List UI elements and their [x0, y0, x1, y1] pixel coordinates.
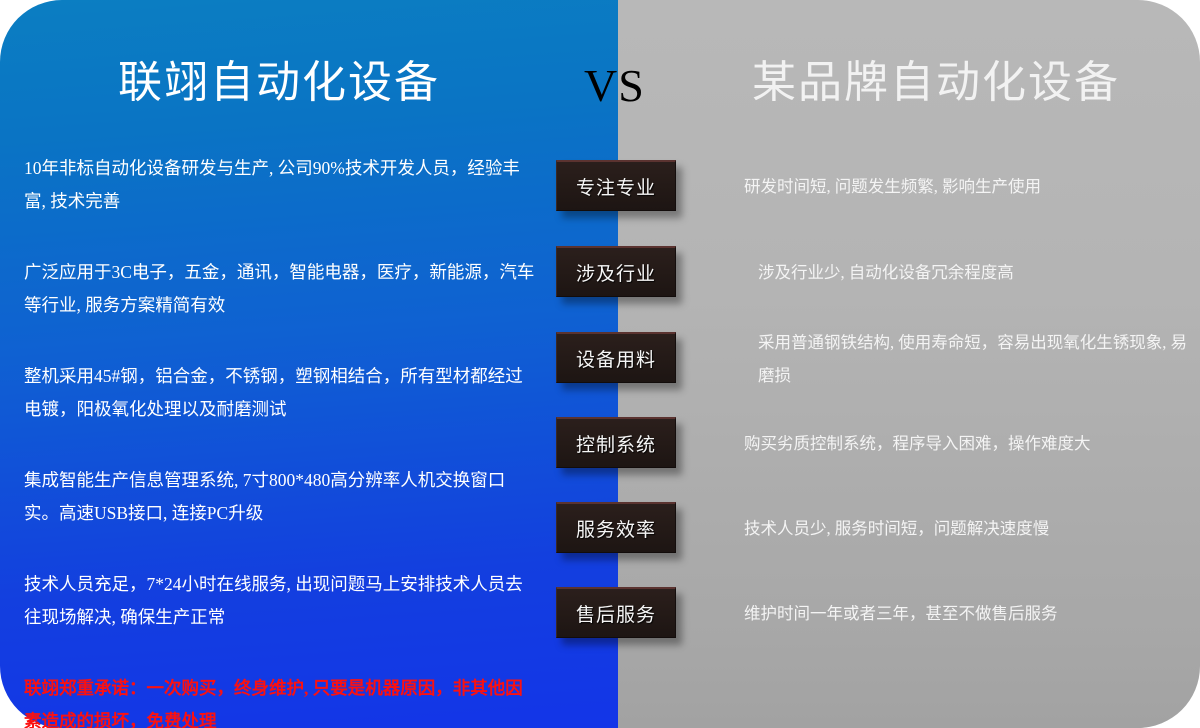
category-chip-after-sales[interactable]: 售后服务: [556, 587, 676, 638]
right-drawback-item-3: 采用普通钢铁结构, 使用寿命短，容易出现氧化生锈现象, 易磨损: [744, 326, 1188, 392]
category-chip-label: 控制系统: [576, 430, 656, 457]
left-brand-title: 联翊自动化设备: [118, 52, 440, 114]
right-drawback-item-5: 技术人员少, 服务时间短，问题解决速度慢: [744, 512, 1174, 545]
right-drawback-item-6: 维护时间一年或者三年，甚至不做售后服务: [744, 597, 1174, 630]
category-chip-label: 设备用料: [576, 345, 656, 372]
left-feature-item-3: 整机采用45#钢，铝合金，不锈钢，塑钢相结合，所有型材都经过电镀，阳极氧化处理以…: [24, 360, 536, 426]
left-feature-item-2: 广泛应用于3C电子，五金，通讯，智能电器，医疗，新能源，汽车等行业, 服务方案精…: [24, 256, 536, 322]
left-warranty-promise: 联翊郑重承诺：一次购买，终身维护, 只要是机器原因，非其他因素造成的损坏，免费处…: [24, 672, 536, 728]
comparison-infographic: 联翊自动化设备 VS 某品牌自动化设备 10年非标自动化设备研发与生产, 公司9…: [0, 0, 1200, 728]
left-feature-item-4: 集成智能生产信息管理系统, 7寸800*480高分辨率人机交换窗口实。高速USB…: [24, 464, 536, 530]
left-feature-list: 10年非标自动化设备研发与生产, 公司90%技术开发人员，经验丰富, 技术完善 …: [24, 152, 536, 728]
category-chip-label: 涉及行业: [576, 259, 656, 286]
category-chip-control-system[interactable]: 控制系统: [556, 417, 676, 468]
category-chip-materials[interactable]: 设备用料: [556, 332, 676, 383]
category-chip-service-efficiency[interactable]: 服务效率: [556, 502, 676, 553]
right-drawback-item-1: 研发时间短, 问题发生频繁, 影响生产使用: [744, 170, 1174, 203]
right-drawback-item-2: 涉及行业少, 自动化设备冗余程度高: [744, 256, 1188, 289]
right-drawback-item-4: 购买劣质控制系统，程序导入困难，操作难度大: [744, 427, 1174, 460]
category-chip-label: 售后服务: [576, 600, 656, 627]
category-chip-label: 专注专业: [576, 173, 656, 200]
category-chip-label: 服务效率: [576, 515, 656, 542]
category-chip-industry[interactable]: 涉及行业: [556, 246, 676, 297]
vs-divider-label: VS: [584, 58, 645, 114]
category-chip-focus[interactable]: 专注专业: [556, 160, 676, 211]
left-feature-item-5: 技术人员充足，7*24小时在线服务, 出现问题马上安排技术人员去往现场解决, 确…: [24, 568, 536, 634]
right-brand-title: 某品牌自动化设备: [752, 52, 1120, 114]
left-feature-item-1: 10年非标自动化设备研发与生产, 公司90%技术开发人员，经验丰富, 技术完善: [24, 152, 536, 218]
